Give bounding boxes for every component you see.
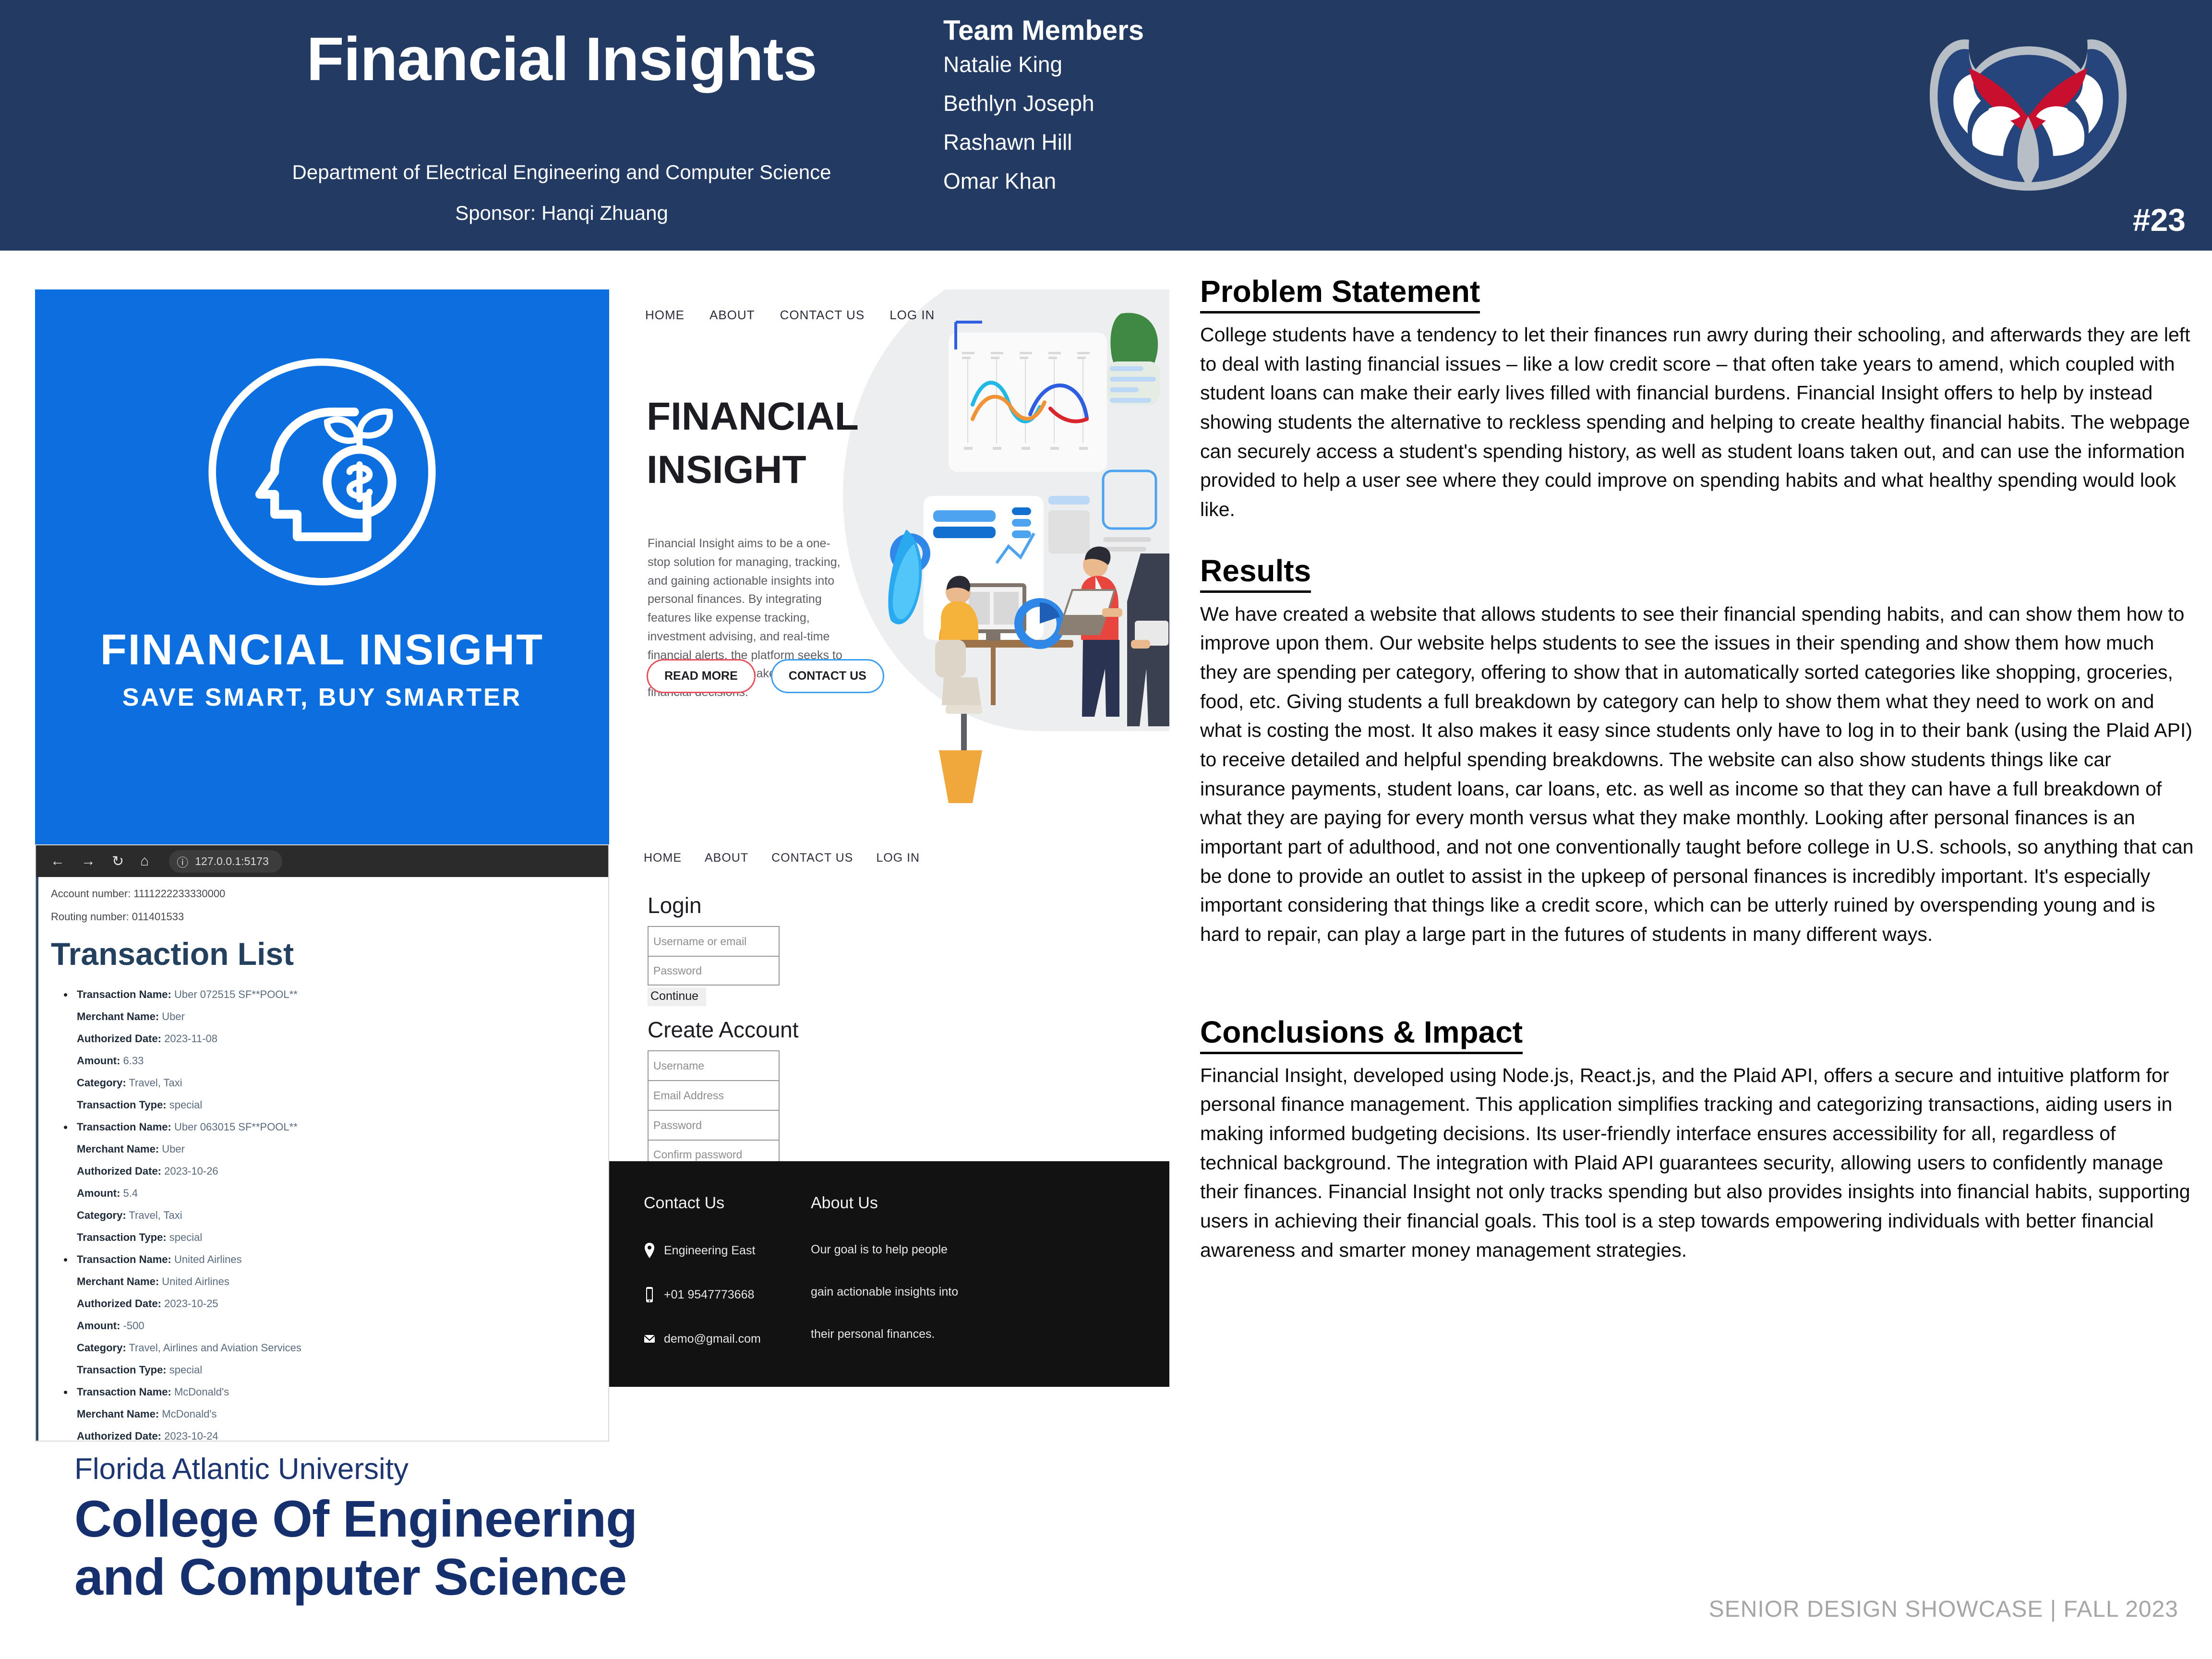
conclusions-body: Financial Insight, developed using Node.… <box>1200 1061 2194 1265</box>
txn-merchant-label: Merchant Name: <box>77 1408 159 1420</box>
txn-type-value: special <box>169 1099 202 1111</box>
txn-date-label: Authorized Date: <box>77 1033 161 1045</box>
site-footer: Contact Us Engineering East +01 95477736… <box>609 1161 1169 1387</box>
list-item: Transaction Name: Uber 063015 SF**POOL**… <box>51 1121 594 1244</box>
txn-name-value: Uber 072515 SF**POOL** <box>174 988 298 1000</box>
txn-date-row: Authorized Date: 2023-11-08 <box>51 1033 594 1045</box>
project-number-badge: #23 <box>2133 202 2186 238</box>
team-member-3: Rashawn Hill <box>943 129 1375 155</box>
txn-type-row: Transaction Type: special <box>51 1099 594 1111</box>
team-member-2: Bethlyn Joseph <box>943 90 1375 116</box>
university-name: Florida Atlantic University <box>74 1452 637 1486</box>
login-nav-contact[interactable]: CONTACT US <box>771 851 853 865</box>
txn-date-value: 2023-10-26 <box>164 1165 218 1177</box>
txn-category-value: Travel, Airlines and Aviation Services <box>129 1342 301 1354</box>
auth-forms: Login Username or email Password Continu… <box>648 892 849 1190</box>
footer-address-row: Engineering East <box>644 1242 817 1259</box>
txn-merchant-label: Merchant Name: <box>77 1143 159 1155</box>
hero-cta-group: READ MORE CONTACT US <box>647 659 884 693</box>
browser-toolbar: ← → ↻ ⌂ ⓘ 127.0.0.1:5173 <box>36 845 608 877</box>
college-name-line-1: College Of Engineering <box>74 1490 637 1548</box>
txn-date-label: Authorized Date: <box>77 1430 161 1442</box>
transaction-list-title: Transaction List <box>51 936 594 972</box>
list-item: Transaction Name: United Airlines Mercha… <box>51 1253 594 1376</box>
login-continue-button[interactable]: Continue <box>648 987 706 1006</box>
login-username-input[interactable]: Username or email <box>648 926 780 956</box>
txn-type-row: Transaction Type: special <box>51 1231 594 1244</box>
txn-category-label: Category: <box>77 1342 126 1354</box>
footer-address-text: Engineering East <box>664 1244 755 1258</box>
read-more-button[interactable]: READ MORE <box>647 659 756 693</box>
problem-statement-section: Problem Statement College students have … <box>1200 274 2194 524</box>
login-heading: Login <box>648 892 849 918</box>
txn-amount-row: Amount: 5.4 <box>51 1187 594 1200</box>
contact-us-button[interactable]: CONTACT US <box>771 659 884 693</box>
txn-type-label: Transaction Type: <box>77 1231 167 1243</box>
footer-contact-column: Contact Us Engineering East +01 95477736… <box>644 1194 817 1375</box>
conclusions-section: Conclusions & Impact Financial Insight, … <box>1200 1014 2194 1265</box>
sponsor-label: Sponsor: Hanqi Zhuang <box>158 202 965 225</box>
footer-phone-text: +01 9547773668 <box>664 1288 754 1302</box>
hero-nav-contact[interactable]: CONTACT US <box>780 308 865 323</box>
hero-headline: FINANCIAL INSIGHT <box>647 390 896 496</box>
txn-date-label: Authorized Date: <box>77 1298 161 1310</box>
hero-nav-about[interactable]: ABOUT <box>709 308 755 323</box>
phone-icon <box>644 1286 655 1303</box>
txn-merchant-value: Uber <box>162 1010 185 1022</box>
txn-amount-row: Amount: 6.33 <box>51 1055 594 1067</box>
txn-date-value: 2023-10-24 <box>164 1430 218 1442</box>
footer-email-row: demo@gmail.com <box>644 1331 817 1347</box>
problem-statement-heading: Problem Statement <box>1200 274 1480 313</box>
hero-nav-home[interactable]: HOME <box>645 308 685 323</box>
txn-category-row: Category: Travel, Taxi <box>51 1209 594 1222</box>
poster-content-column: Problem Statement College students have … <box>1200 274 2194 1264</box>
txn-merchant-label: Merchant Name: <box>77 1275 159 1287</box>
login-password-input[interactable]: Password <box>648 956 780 986</box>
account-number-label: Account number: 1111222233330000 <box>51 888 594 900</box>
txn-name-row: Transaction Name: Uber 072515 SF**POOL** <box>51 988 594 1001</box>
home-icon[interactable]: ⌂ <box>140 853 149 869</box>
team-members-heading: Team Members <box>943 14 1375 47</box>
footer-about-line-1: Our goal is to help people <box>811 1242 1012 1257</box>
txn-name-value: McDonald's <box>174 1386 229 1398</box>
txn-name-row: Transaction Name: United Airlines <box>51 1253 594 1266</box>
txn-merchant-value: United Airlines <box>162 1275 229 1287</box>
txn-amount-value: 6.33 <box>123 1055 144 1067</box>
txn-type-value: special <box>169 1364 202 1376</box>
fau-branding: Florida Atlantic University College Of E… <box>74 1452 637 1606</box>
txn-name-label: Transaction Name: <box>77 1253 171 1265</box>
footer-email-text: demo@gmail.com <box>664 1332 761 1346</box>
login-nav-login[interactable]: LOG IN <box>876 851 920 865</box>
routing-number-label: Routing number: 011401533 <box>51 911 594 923</box>
txn-amount-label: Amount: <box>77 1187 120 1199</box>
team-members-block: Team Members Natalie King Bethlyn Joseph… <box>943 14 1375 207</box>
brand-tagline: SAVE SMART, BUY SMARTER <box>35 683 609 712</box>
results-heading: Results <box>1200 553 1311 593</box>
brand-splash-image: FINANCIAL INSIGHT SAVE SMART, BUY SMARTE… <box>35 289 609 844</box>
txn-merchant-value: Uber <box>162 1143 185 1155</box>
results-section: Results We have created a website that a… <box>1200 553 2194 949</box>
transaction-page-body: Account number: 1111222233330000 Routing… <box>36 877 608 1442</box>
team-member-1: Natalie King <box>943 51 1375 77</box>
txn-category-value: Travel, Taxi <box>129 1077 182 1089</box>
envelope-icon <box>644 1331 655 1347</box>
brain-money-plant-icon <box>197 347 447 597</box>
finance-dashboard-illustration <box>881 304 1169 842</box>
problem-statement-body: College students have a tendency to let … <box>1200 320 2194 524</box>
txn-amount-value: -500 <box>123 1320 144 1332</box>
create-account-heading: Create Account <box>648 1017 849 1043</box>
reload-icon[interactable]: ↻ <box>112 853 124 870</box>
footer-about-line-2: gain actionable insights into <box>811 1285 1012 1299</box>
page-title: Financial Insights <box>158 24 965 95</box>
create-email-input[interactable]: Email Address <box>648 1080 780 1110</box>
showcase-tagline: SENIOR DESIGN SHOWCASE | FALL 2023 <box>1709 1596 2178 1623</box>
address-bar[interactable]: ⓘ 127.0.0.1:5173 <box>169 850 282 873</box>
txn-name-label: Transaction Name: <box>77 1121 171 1133</box>
txn-date-row: Authorized Date: 2023-10-24 <box>51 1430 594 1442</box>
brand-name: FINANCIAL INSIGHT <box>35 625 609 675</box>
login-nav[interactable]: HOME ABOUT CONTACT US LOG IN <box>644 851 920 865</box>
create-username-input[interactable]: Username <box>648 1050 780 1080</box>
txn-amount-value: 5.4 <box>123 1187 138 1199</box>
list-item: Transaction Name: McDonald's Merchant Na… <box>51 1386 594 1442</box>
txn-amount-label: Amount: <box>77 1055 120 1067</box>
txn-merchant-row: Merchant Name: Uber <box>51 1143 594 1155</box>
txn-merchant-row: Merchant Name: United Airlines <box>51 1275 594 1288</box>
transaction-list-screenshot: ← → ↻ ⌂ ⓘ 127.0.0.1:5173 Account number:… <box>35 844 609 1442</box>
txn-type-row: Transaction Type: special <box>51 1364 594 1376</box>
txn-name-label: Transaction Name: <box>77 1386 171 1398</box>
txn-type-value: special <box>169 1231 202 1243</box>
results-body: We have created a website that allows st… <box>1200 600 2194 949</box>
txn-category-label: Category: <box>77 1209 126 1221</box>
poster-header: Financial Insights Department of Electri… <box>0 0 2212 251</box>
txn-date-value: 2023-11-08 <box>164 1033 217 1045</box>
transaction-list: Transaction Name: Uber 072515 SF**POOL**… <box>51 988 594 1442</box>
url-text: 127.0.0.1:5173 <box>195 855 268 868</box>
list-item: Transaction Name: Uber 072515 SF**POOL**… <box>51 988 594 1111</box>
forward-arrow-icon[interactable]: → <box>81 853 96 869</box>
txn-type-label: Transaction Type: <box>77 1364 167 1376</box>
txn-merchant-row: Merchant Name: McDonald's <box>51 1408 594 1420</box>
login-nav-about[interactable]: ABOUT <box>705 851 748 865</box>
footer-about-column: About Us Our goal is to help people gain… <box>811 1194 1012 1369</box>
txn-name-row: Transaction Name: McDonald's <box>51 1386 594 1398</box>
txn-date-row: Authorized Date: 2023-10-26 <box>51 1165 594 1178</box>
info-icon: ⓘ <box>177 853 188 870</box>
team-member-4: Omar Khan <box>943 168 1375 194</box>
footer-about-heading: About Us <box>811 1194 1012 1213</box>
txn-amount-row: Amount: -500 <box>51 1320 594 1332</box>
txn-category-label: Category: <box>77 1077 126 1089</box>
map-pin-icon <box>644 1242 655 1259</box>
txn-date-row: Authorized Date: 2023-10-25 <box>51 1298 594 1310</box>
txn-merchant-label: Merchant Name: <box>77 1010 159 1022</box>
txn-name-value: Uber 063015 SF**POOL** <box>174 1121 298 1133</box>
txn-date-value: 2023-10-25 <box>164 1298 218 1310</box>
footer-phone-row: +01 9547773668 <box>644 1286 817 1303</box>
txn-name-value: United Airlines <box>174 1253 242 1265</box>
footer-about-line-3: their personal finances. <box>811 1327 1012 1341</box>
txn-type-label: Transaction Type: <box>77 1099 167 1111</box>
login-nav-home[interactable]: HOME <box>644 851 682 865</box>
txn-name-row: Transaction Name: Uber 063015 SF**POOL** <box>51 1121 594 1133</box>
fau-owl-logo <box>1882 17 2175 214</box>
department-label: Department of Electrical Engineering and… <box>158 161 965 184</box>
conclusions-heading: Conclusions & Impact <box>1200 1014 1523 1054</box>
login-page-screenshot: HOME ABOUT CONTACT US LOG IN Login Usern… <box>609 844 1169 1442</box>
college-name-line-2: and Computer Science <box>74 1548 637 1606</box>
txn-name-label: Transaction Name: <box>77 988 171 1000</box>
txn-date-label: Authorized Date: <box>77 1165 161 1177</box>
txn-category-value: Travel, Taxi <box>129 1209 182 1221</box>
back-arrow-icon[interactable]: ← <box>50 853 65 869</box>
screenshots-panel: FINANCIAL INSIGHT SAVE SMART, BUY SMARTE… <box>35 289 1169 1442</box>
txn-merchant-value: McDonald's <box>162 1408 216 1420</box>
txn-merchant-row: Merchant Name: Uber <box>51 1010 594 1023</box>
footer-contact-heading: Contact Us <box>644 1194 817 1213</box>
hero-nav-login[interactable]: LOG IN <box>890 308 935 323</box>
txn-category-row: Category: Travel, Taxi <box>51 1077 594 1089</box>
hero-nav[interactable]: HOME ABOUT CONTACT US LOG IN <box>645 308 935 323</box>
txn-amount-label: Amount: <box>77 1320 120 1332</box>
txn-category-row: Category: Travel, Airlines and Aviation … <box>51 1342 594 1354</box>
hero-page-screenshot: HOME ABOUT CONTACT US LOG IN FINANCIAL I… <box>609 289 1169 844</box>
create-password-input[interactable]: Password <box>648 1110 780 1140</box>
